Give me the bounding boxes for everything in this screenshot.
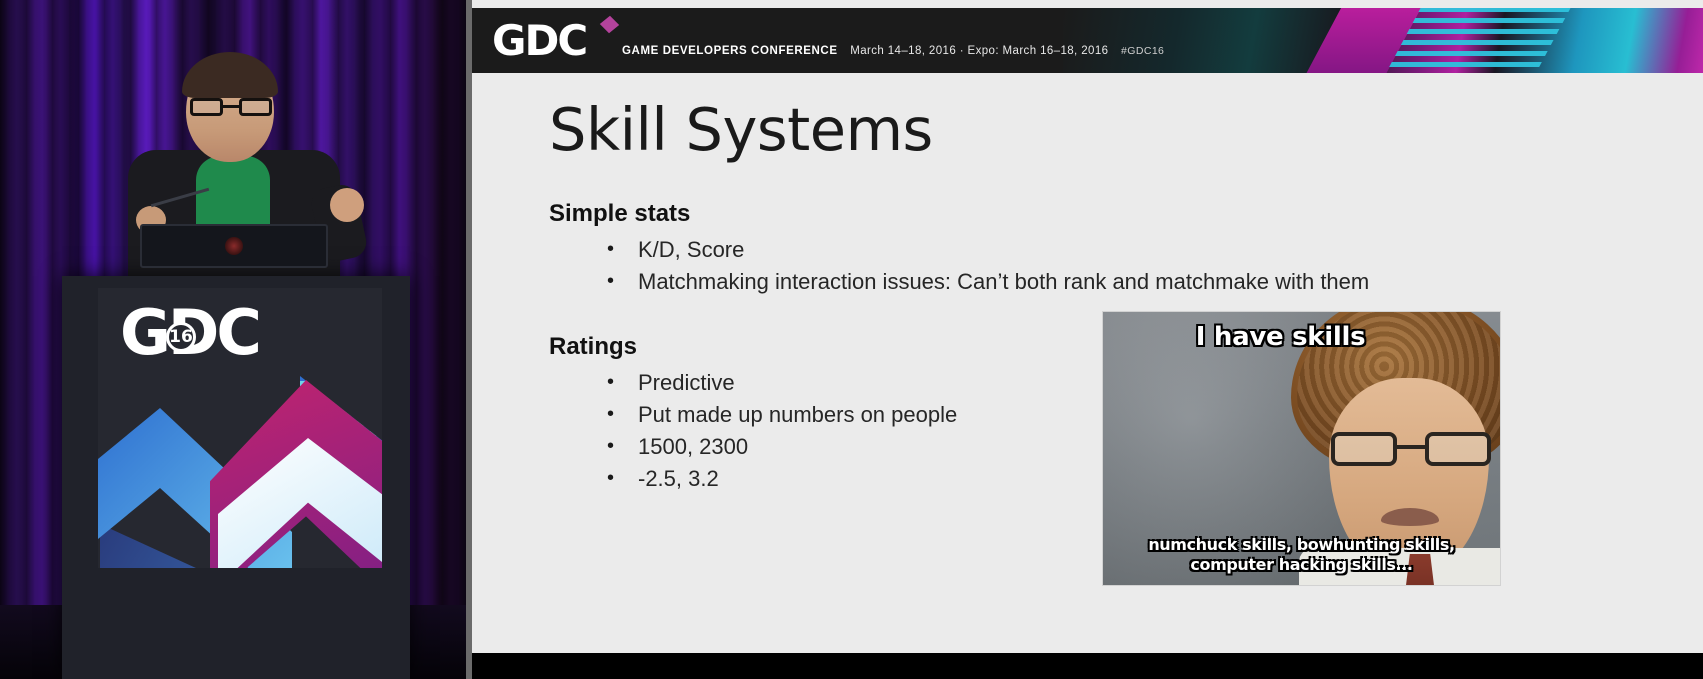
list-item: K/D, Score [605,234,1369,266]
laptop [140,224,328,268]
podium-graphic-panel: GDC 16 [98,288,382,568]
speaker-right-hand [330,188,364,222]
list-item: -2.5, 3.2 [605,463,957,495]
list-item: Matchmaking interaction issues: Can’t bo… [605,266,1369,298]
section-heading-simple-stats: Simple stats [549,200,690,228]
slide-title: Skill Systems [549,95,933,164]
meme-top-caption: I have skills [1103,322,1500,352]
conference-name: GAME DEVELOPERS CONFERENCE [622,45,838,57]
podium-year-badge: 16 [166,322,196,352]
list-item: Put made up numbers on people [605,399,957,431]
podium-gdc-logo: GDC 16 [120,302,259,364]
glasses-right-lens [239,98,272,116]
list-item: 1500, 2300 [605,431,957,463]
presentation-recording-frame: GDC 16 GDC GAME DEVELOPERS CONFERENCE Ma… [0,0,1703,679]
slide-header-bar: GDC GAME DEVELOPERS CONFERENCE March 14–… [472,8,1703,73]
eyeglasses-icon [190,98,272,116]
conference-dates: March 14–18, 2016 · Expo: March 16–18, 2… [850,45,1108,57]
speaker-video-panel: GDC 16 [0,0,470,679]
meme-glasses-left-lens [1331,432,1397,466]
slide-bottom-bar [472,653,1703,679]
glasses-bridge [223,105,239,108]
bullet-list-ratings: Predictive Put made up numbers on people… [605,367,957,495]
meme-glasses-bridge [1397,445,1425,449]
bullet-list-simple-stats: K/D, Score Matchmaking interaction issue… [605,234,1369,298]
meme-character-glasses-icon [1331,432,1491,466]
header-info-text: GAME DEVELOPERS CONFERENCE March 14–18, … [622,45,1164,57]
presentation-slide: GDC GAME DEVELOPERS CONFERENCE March 14–… [472,0,1703,679]
conference-hashtag: #GDC16 [1121,45,1164,57]
meme-glasses-right-lens [1425,432,1491,466]
list-item: Predictive [605,367,957,399]
glasses-left-lens [190,98,223,116]
section-heading-ratings: Ratings [549,333,637,361]
meme-character-mouth [1381,508,1439,526]
gdc-diamond-icon [600,16,619,33]
meme-bottom-caption: numchuck skills, bowhunting skills, comp… [1111,535,1492,575]
gdc-logo-text: GDC [492,16,586,65]
header-decorative-artwork [1063,8,1703,73]
gdc-logo: GDC [492,20,586,62]
napoleon-dynamite-meme-image: I have skills numchuck skills, bowhuntin… [1102,311,1501,586]
